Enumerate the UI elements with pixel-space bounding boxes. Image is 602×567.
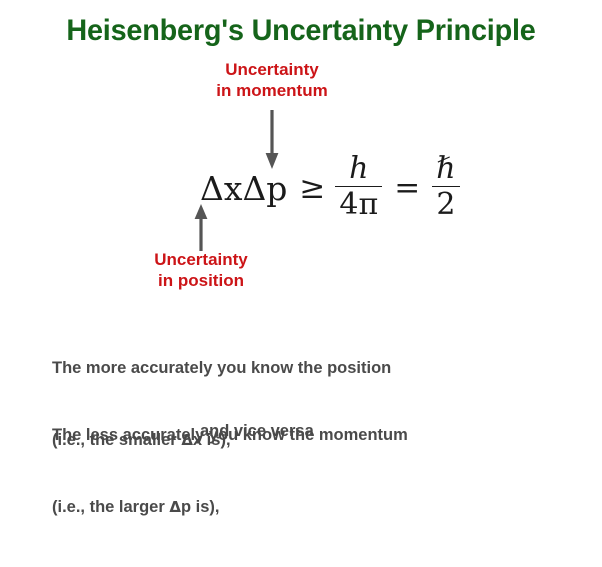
fraction-2-denominator: 2 [432, 187, 459, 220]
callout-momentum-line2: in momentum [186, 80, 358, 101]
callout-momentum-line1: Uncertainty [225, 60, 319, 79]
delta-symbol: Δ [169, 498, 181, 516]
paragraph-momentum-line2-suffix: p is), [181, 498, 220, 516]
equation-equals: = [382, 170, 432, 206]
equation-relation: ≥ [287, 170, 335, 206]
equation-lhs: ΔxΔp [200, 169, 287, 208]
equation-fraction-h-over-4pi: h 4π [335, 154, 382, 221]
equation-delta-x: Δx [200, 169, 242, 208]
paragraph-momentum-line2: (i.e., the larger Δp is), [52, 495, 408, 519]
arrow-up-icon [191, 203, 211, 253]
equation-delta-p: Δp [242, 169, 287, 208]
slide-canvas: Heisenberg's Uncertainty Principle Uncer… [0, 0, 602, 452]
page-title: Heisenberg's Uncertainty Principle [12, 14, 590, 48]
fraction-2-numerator: ℏ [432, 154, 459, 186]
fraction-1-denominator: 4π [335, 187, 382, 220]
closing-line: and vice versa [200, 419, 314, 443]
callout-position-line2: in position [115, 270, 287, 291]
equation-fraction-hbar-over-2: ℏ 2 [432, 154, 459, 221]
paragraph-momentum: The less accurately you know the momentu… [52, 375, 408, 567]
fraction-1-numerator: h [345, 154, 372, 186]
uncertainty-equation: ΔxΔp ≥ h 4π = ℏ 2 [200, 150, 460, 226]
callout-momentum: Uncertainty in momentum [186, 59, 358, 101]
callout-position: Uncertainty in position [115, 249, 287, 291]
callout-position-line1: Uncertainty [154, 250, 248, 269]
paragraph-momentum-line2-prefix: (i.e., the larger [52, 498, 169, 516]
